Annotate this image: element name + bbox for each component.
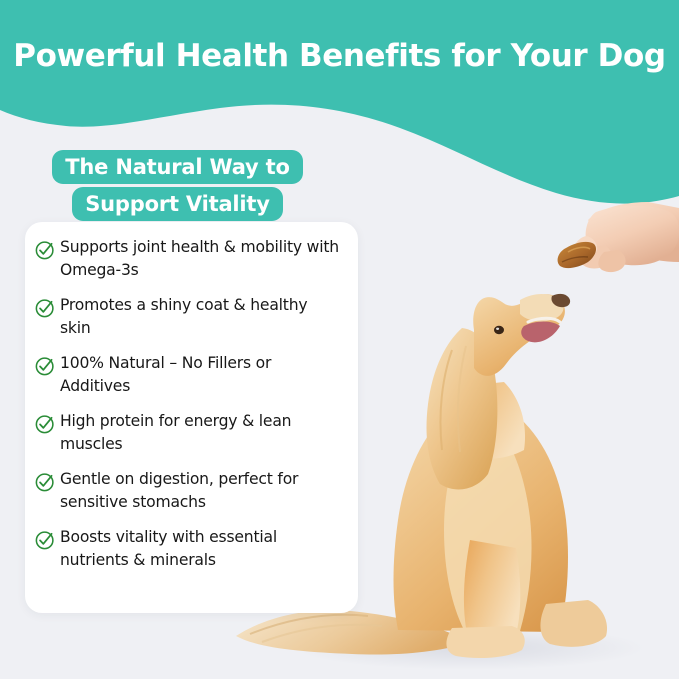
list-item: 100% Natural – No Fillers or Additives xyxy=(25,352,358,397)
check-circle-icon xyxy=(34,355,56,377)
dog-tail xyxy=(236,610,470,654)
check-circle-icon xyxy=(34,413,56,435)
list-item: Boosts vitality with essential nutrients… xyxy=(25,526,358,571)
benefit-text: Boosts vitality with essential nutrients… xyxy=(60,526,342,571)
dog-hind-paw xyxy=(540,600,607,647)
list-item: Gentle on digestion, perfect for sensiti… xyxy=(25,468,358,513)
benefit-text: Promotes a shiny coat & healthy skin xyxy=(60,294,342,339)
promo-graphic: Powerful Health Benefits for Your Dog xyxy=(0,0,679,679)
subtitle-badge: The Natural Way to Support Vitality xyxy=(0,150,355,224)
check-circle-icon xyxy=(34,529,56,551)
benefit-text: Gentle on digestion, perfect for sensiti… xyxy=(60,468,342,513)
dog-head xyxy=(473,294,565,376)
badge-line-2: Support Vitality xyxy=(72,187,283,221)
dog-nose xyxy=(551,294,570,307)
benefit-text: 100% Natural – No Fillers or Additives xyxy=(60,352,342,397)
list-item: High protein for energy & lean muscles xyxy=(25,410,358,455)
dog-eye xyxy=(494,326,504,334)
check-circle-icon xyxy=(34,297,56,319)
benefit-text: High protein for energy & lean muscles xyxy=(60,410,342,455)
dog-ear xyxy=(427,328,498,489)
dog-body xyxy=(394,410,569,632)
list-item: Promotes a shiny coat & healthy skin xyxy=(25,294,358,339)
check-circle-icon xyxy=(34,239,56,261)
badge-line-1: The Natural Way to xyxy=(52,150,302,184)
list-item: Supports joint health & mobility with Om… xyxy=(25,236,358,281)
benefits-card: Supports joint health & mobility with Om… xyxy=(25,222,358,613)
dog-tongue xyxy=(521,322,560,343)
benefit-text: Supports joint health & mobility with Om… xyxy=(60,236,342,281)
page-title: Powerful Health Benefits for Your Dog xyxy=(0,36,679,76)
dog-treat xyxy=(558,242,596,268)
check-circle-icon xyxy=(34,471,56,493)
benefits-list: Supports joint health & mobility with Om… xyxy=(25,222,358,584)
dog-front-paw xyxy=(446,626,524,658)
